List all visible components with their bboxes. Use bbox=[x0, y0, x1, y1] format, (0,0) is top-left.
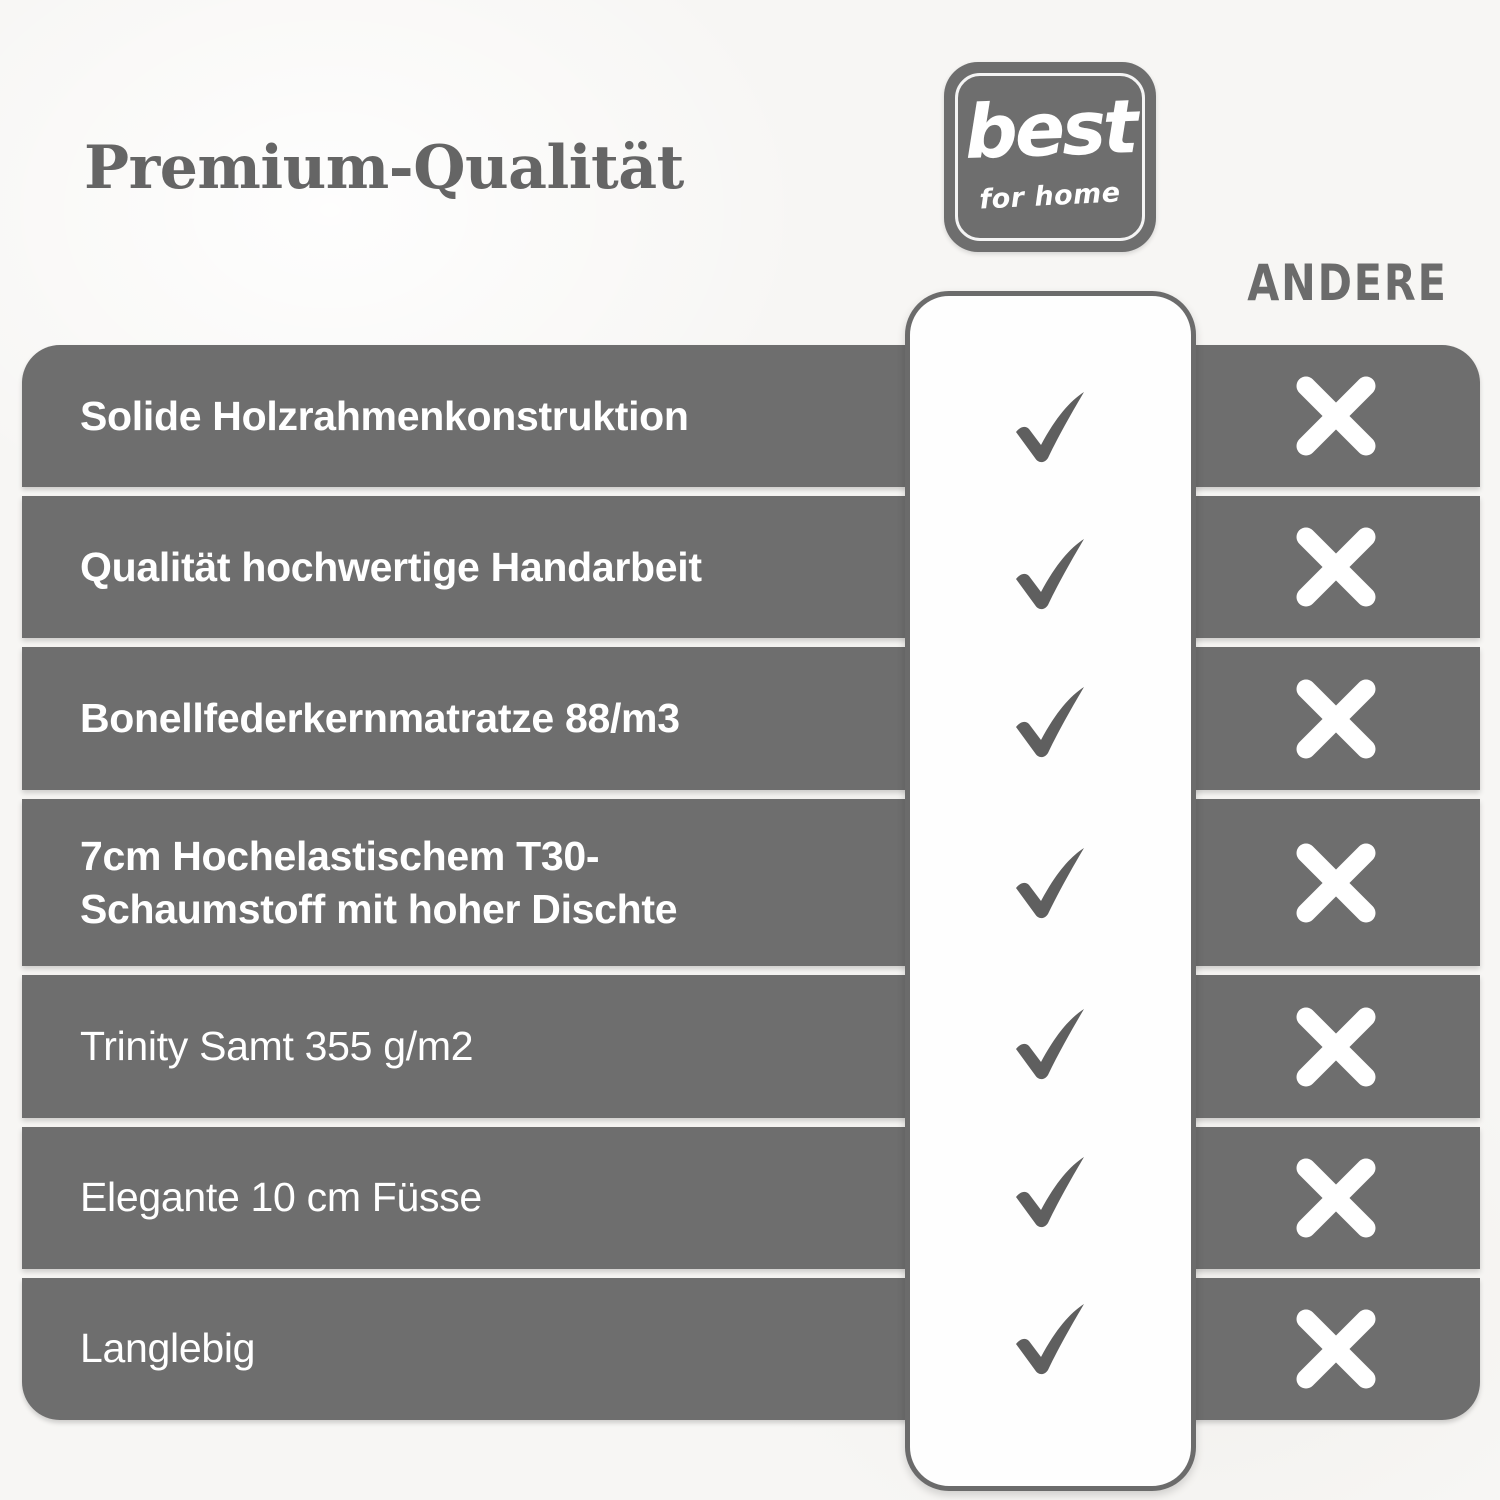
table-row: Solide Holzrahmenkonstruktion bbox=[22, 345, 1480, 487]
cross-icon bbox=[1288, 835, 1384, 931]
cross-icon bbox=[1288, 1301, 1384, 1397]
feature-label: Qualität hochwertige Handarbeit bbox=[22, 541, 902, 594]
feature-label-line1: 7cm Hochelastischem T30- bbox=[80, 833, 599, 879]
comparison-table: Solide Holzrahmenkonstruktion Qualität h… bbox=[22, 345, 1480, 1420]
page-title: Premium-Qualität bbox=[84, 133, 684, 203]
feature-label: Langlebig bbox=[22, 1322, 902, 1375]
table-row: Trinity Samt 355 g/m2 bbox=[22, 975, 1480, 1117]
check-icon bbox=[996, 986, 1106, 1096]
cell-other bbox=[1192, 999, 1480, 1095]
check-icon bbox=[996, 1281, 1106, 1391]
column-header-andere: ANDERE bbox=[1216, 254, 1478, 312]
check-icon bbox=[996, 825, 1106, 935]
brand-logo: best for home bbox=[944, 62, 1156, 252]
cell-other bbox=[1192, 368, 1480, 464]
cell-other bbox=[1192, 835, 1480, 931]
check-slot bbox=[910, 967, 1191, 1115]
feature-label: Solide Holzrahmenkonstruktion bbox=[22, 390, 902, 443]
cross-icon bbox=[1288, 1150, 1384, 1246]
check-slot bbox=[910, 1262, 1191, 1410]
check-icon bbox=[996, 1134, 1106, 1244]
table-row: 7cm Hochelastischem T30- Schaumstoff mit… bbox=[22, 799, 1480, 967]
check-icon bbox=[996, 516, 1106, 626]
table-row: Qualität hochwertige Handarbeit bbox=[22, 496, 1480, 638]
feature-label: 7cm Hochelastischem T30- Schaumstoff mit… bbox=[22, 830, 902, 936]
check-slot bbox=[910, 793, 1191, 967]
feature-label: Elegante 10 cm Füsse bbox=[22, 1171, 902, 1224]
check-icon bbox=[996, 369, 1106, 479]
cell-other bbox=[1192, 1150, 1480, 1246]
cell-other bbox=[1192, 1301, 1480, 1397]
check-icon bbox=[996, 664, 1106, 774]
table-row: Langlebig bbox=[22, 1278, 1480, 1420]
cross-icon bbox=[1288, 368, 1384, 464]
logo-primary-text: best bbox=[943, 86, 1158, 173]
check-slot bbox=[910, 1115, 1191, 1263]
cross-icon bbox=[1288, 671, 1384, 767]
feature-label: Bonellfederkernmatratze 88/m3 bbox=[22, 692, 902, 745]
check-slot bbox=[910, 350, 1191, 498]
cell-other bbox=[1192, 671, 1480, 767]
feature-label: Trinity Samt 355 g/m2 bbox=[22, 1020, 902, 1073]
table-row: Elegante 10 cm Füsse bbox=[22, 1127, 1480, 1269]
check-slot bbox=[910, 498, 1191, 646]
feature-label-line2: Schaumstoff mit hoher Dischte bbox=[80, 883, 882, 936]
best-column-highlight bbox=[905, 291, 1196, 1491]
table-row: Bonellfederkernmatratze 88/m3 bbox=[22, 647, 1480, 789]
check-slot bbox=[910, 645, 1191, 793]
cell-other bbox=[1192, 519, 1480, 615]
cross-icon bbox=[1288, 999, 1384, 1095]
cross-icon bbox=[1288, 519, 1384, 615]
